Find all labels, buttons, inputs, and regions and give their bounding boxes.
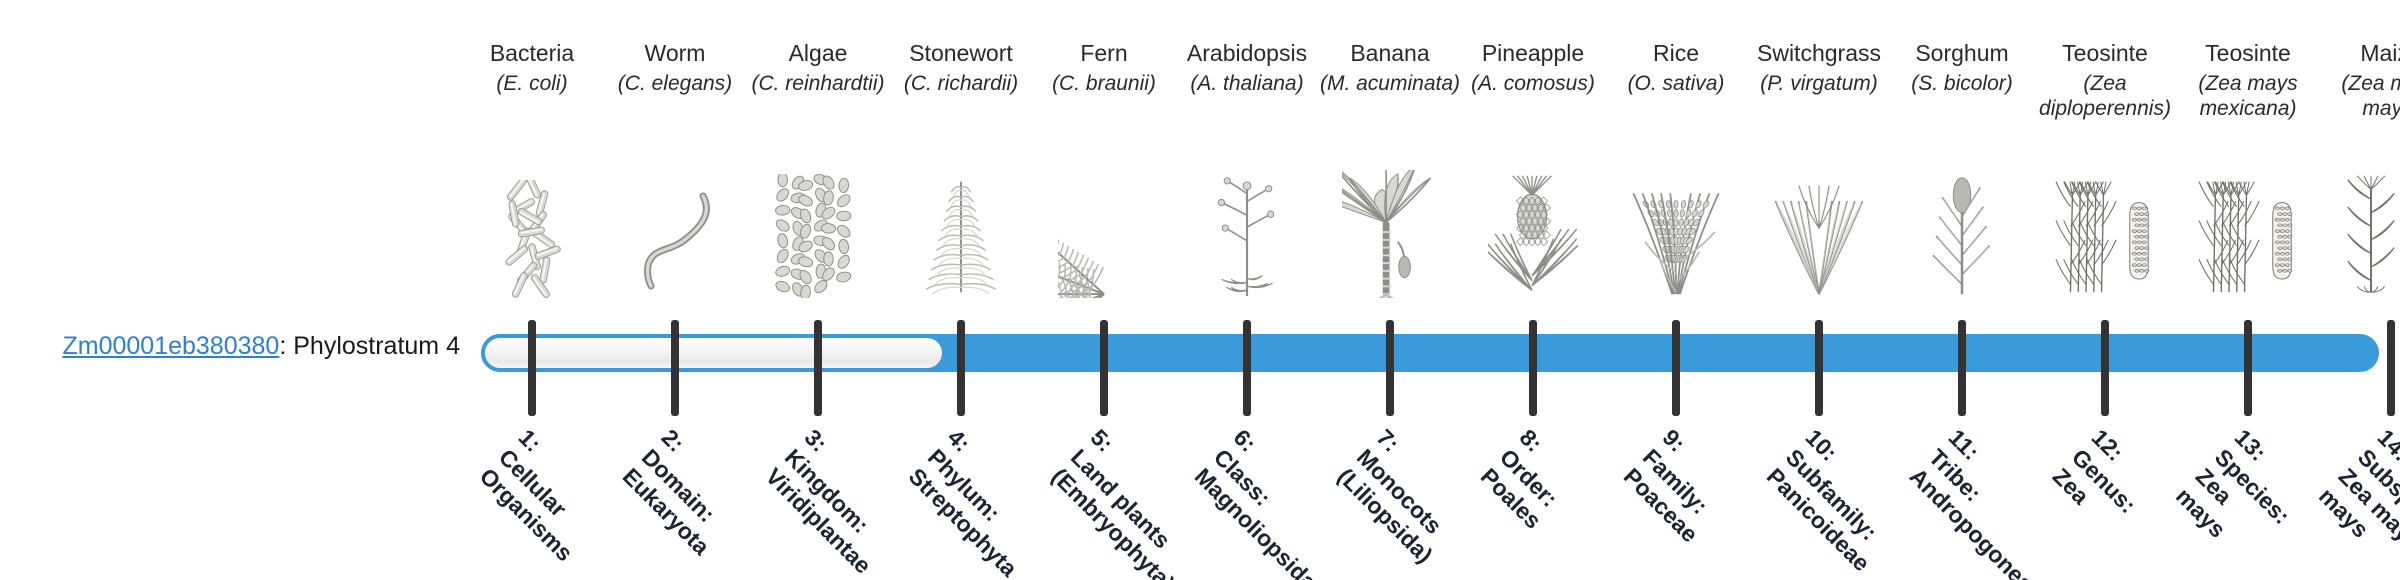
scientific-name-9: (O. sativa): [1601, 72, 1751, 97]
rank-label-2: 2: Domain: Eukaryota: [616, 424, 753, 561]
phylostratum-tick-13[interactable]: [2244, 320, 2252, 416]
common-name-12: Teosinte: [2030, 40, 2180, 66]
common-name-2: Worm: [600, 40, 750, 66]
phylostratum-tick-5[interactable]: [1100, 320, 1108, 416]
rank-label-14: 14: Subspecies: Zea mays mays: [2313, 424, 2400, 580]
phylostratum-column-2: Worm(C. elegans) 2: Domain: Eukaryota: [600, 0, 750, 580]
scientific-name-11: (S. bicolor): [1887, 72, 2037, 97]
rank-label-1: 1: Cellular Organisms: [473, 424, 616, 567]
phylostratum-figure: Zm00001eb380380: Phylostratum 4 Bacteria…: [0, 0, 2400, 580]
phylostratum-column-3: Algae(C. reinhardtii)3: Kingdom: Viridip…: [743, 0, 893, 580]
phylostratum-column-11: Sorghum(S. bicolor) 11: Tribe: Andropogo…: [1887, 0, 2037, 580]
teosinte-plant-and-ear-icon: [2030, 168, 2180, 298]
arabidopsis-icon: [1172, 168, 1322, 298]
pineapple-plant-icon: [1458, 168, 1608, 298]
common-name-11: Sorghum: [1887, 40, 2037, 66]
gene-id-link[interactable]: Zm00001eb380380: [62, 332, 279, 360]
stonewort-icon: [886, 168, 1036, 298]
scientific-name-10: (P. virgatum): [1744, 72, 1894, 97]
phylostratum-tick-10[interactable]: [1815, 320, 1823, 416]
phylostratum-tick-8[interactable]: [1529, 320, 1537, 416]
scientific-name-14: (Zea mays mays): [2316, 72, 2400, 122]
switchgrass-icon: [1744, 168, 1894, 298]
phylostratum-tick-11[interactable]: [1958, 320, 1966, 416]
phylostratum-tick-4[interactable]: [957, 320, 965, 416]
scientific-name-3: (C. reinhardtii): [743, 72, 893, 97]
phylostratum-column-10: Switchgrass(P. virgatum): [1744, 0, 1894, 580]
phylostratum-tick-1[interactable]: [528, 320, 536, 416]
nematode-worm-icon: [600, 168, 750, 298]
phylostratum-tick-3[interactable]: [814, 320, 822, 416]
common-name-6: Arabidopsis: [1172, 40, 1322, 66]
phylostratum-tick-12[interactable]: [2101, 320, 2109, 416]
phylostratum-column-6: Arabidopsis(A. thaliana) 6: Class: Magno…: [1172, 0, 1322, 580]
phylostratum-column-5: Fern(C. braunii): [1029, 0, 1179, 580]
algae-cells-icon: [743, 168, 893, 298]
rank-label-7: 7: Monocots (Liliopsida): [1331, 424, 1476, 569]
scientific-name-5: (C. braunii): [1029, 72, 1179, 97]
common-name-13: Teosinte: [2173, 40, 2323, 66]
scientific-name-2: (C. elegans): [600, 72, 750, 97]
phylostratum-column-1: Bacteria(E. coli): [457, 0, 607, 580]
banana-plant-icon: [1315, 168, 1465, 298]
phylostratum-column-7: Banana(M. acuminata) 7: Monocots (Liliop…: [1315, 0, 1465, 580]
common-name-3: Algae: [743, 40, 893, 66]
common-name-8: Pineapple: [1458, 40, 1608, 66]
common-name-5: Fern: [1029, 40, 1179, 66]
rank-label-8: 8: Order: Poales: [1474, 424, 1585, 535]
progress-bar-unfilled: [481, 334, 946, 372]
rank-label-11: 11: Tribe: Andropogoneae: [1903, 424, 2086, 580]
gene-label-separator: :: [279, 332, 293, 360]
scientific-name-7: (M. acuminata): [1315, 72, 1465, 97]
phylostratum-column-13: Teosinte(Zea mays mexicana) 13: Species:…: [2173, 0, 2323, 580]
phylostratum-tick-14[interactable]: [2387, 320, 2395, 416]
common-name-4: Stonewort: [886, 40, 1036, 66]
rank-label-13: 13: Species: Zea mays: [2170, 424, 2315, 569]
common-name-7: Banana: [1315, 40, 1465, 66]
rank-label-5: 5: Land plants (Embryophyta): [1045, 424, 1218, 580]
scientific-name-13: (Zea mays mexicana): [2161, 72, 2335, 122]
common-name-9: Rice: [1601, 40, 1751, 66]
phylostratum-value: Phylostratum 4: [293, 332, 460, 360]
scientific-name-8: (A. comosus): [1458, 72, 1608, 97]
scientific-name-4: (C. richardii): [886, 72, 1036, 97]
common-name-10: Switchgrass: [1744, 40, 1894, 66]
rank-label-9: 9: Family: Poaceae: [1617, 424, 1742, 549]
phylostratum-column-8: Pineapple(A. comosus): [1458, 0, 1608, 580]
teosinte-plant-and-ear-icon: [2173, 168, 2323, 298]
phylostratum-column-9: Rice(O. sativa)9: Family: Poaceae: [1601, 0, 1751, 580]
scientific-name-6: (A. thaliana): [1172, 72, 1322, 97]
rank-label-6: 6: Class: Magnoliopsida: [1188, 424, 1360, 580]
phylostratum-tick-7[interactable]: [1386, 320, 1394, 416]
maize-plant-and-cob-icon: [2316, 168, 2400, 298]
rank-label-12: 12: Genus: Zea: [2046, 424, 2161, 539]
phylostratum-track: Bacteria(E. coli): [460, 0, 2400, 580]
gene-phylostratum-label: Zm00001eb380380: Phylostratum 4: [0, 331, 460, 361]
phylostratum-column-14: Maize(Zea mays mays) 14: Subspecies: Zea…: [2316, 0, 2400, 580]
phylostratum-tick-6[interactable]: [1243, 320, 1251, 416]
rank-label-4: 4: Phylum: Streptophyta: [902, 424, 1061, 580]
common-name-14: Maize: [2316, 40, 2400, 66]
phylostratum-tick-2[interactable]: [671, 320, 679, 416]
phylostratum-column-12: Teosinte(Zea diploperennis) 12: Genus: Z…: [2030, 0, 2180, 580]
rank-label-3: 3: Kingdom: Viridiplantae: [759, 424, 915, 580]
sorghum-plant-icon: [1887, 168, 2037, 298]
rank-label-10: 10: Subfamily: Panicoideae: [1760, 424, 1913, 577]
phylostratum-column-4: Stonewort(C. richardii)4: Phylum: Strept…: [886, 0, 1036, 580]
scientific-name-1: (E. coli): [457, 72, 607, 97]
phylostratum-tick-9[interactable]: [1672, 320, 1680, 416]
fern-frond-icon: [1029, 168, 1179, 298]
common-name-1: Bacteria: [457, 40, 607, 66]
rice-plant-icon: [1601, 168, 1751, 298]
bacteria-rods-icon: [457, 168, 607, 298]
